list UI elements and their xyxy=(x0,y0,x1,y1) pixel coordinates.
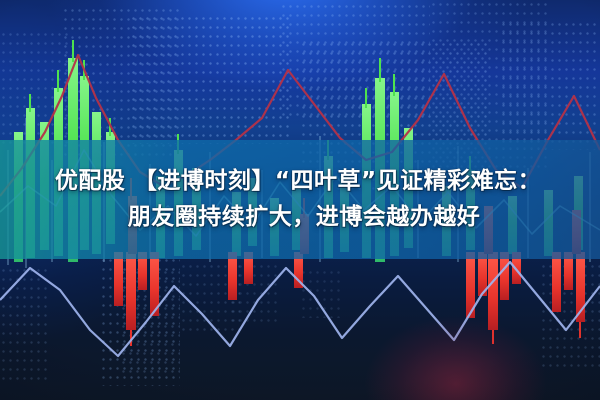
caption-line-1: 优配股 【进博时刻】“四叶草”见证精彩难忘： xyxy=(55,166,545,198)
banner-image: 优配股 【进博时刻】“四叶草”见证精彩难忘： 朋友圈持续扩大，进博会越办越好 xyxy=(0,0,600,400)
caption-text-block: 优配股 【进博时刻】“四叶草”见证精彩难忘： 朋友圈持续扩大，进博会越办越好 xyxy=(0,140,600,259)
caption-line-2: 朋友圈持续扩大，进博会越办越好 xyxy=(120,202,481,234)
